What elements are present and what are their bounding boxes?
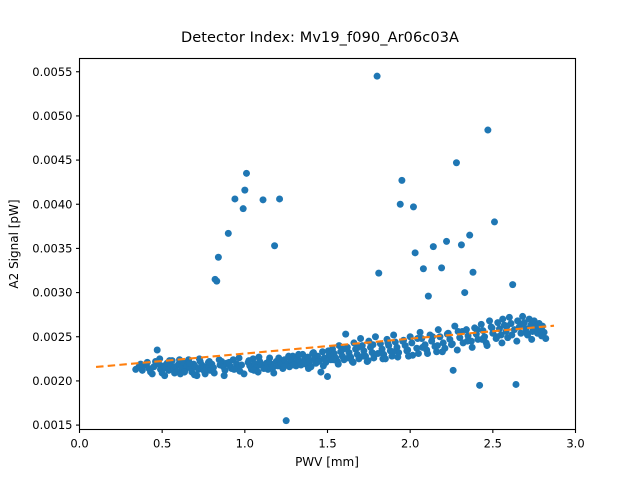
- data-point: [466, 232, 473, 239]
- data-point: [397, 201, 404, 208]
- y-axis-ticks: 0.00150.00200.00250.00300.00350.00400.00…: [32, 65, 79, 432]
- data-point: [285, 353, 292, 360]
- data-point: [213, 278, 220, 285]
- y-tick-label: 0.0035: [32, 241, 72, 255]
- data-point: [186, 360, 193, 367]
- data-point: [241, 187, 248, 194]
- data-point: [424, 350, 431, 357]
- data-point: [453, 159, 460, 166]
- data-point: [154, 347, 161, 354]
- x-tick-label: 3.0: [566, 437, 584, 451]
- y-tick-label: 0.0045: [32, 153, 72, 167]
- data-point: [216, 356, 223, 363]
- data-point: [275, 354, 282, 361]
- data-point: [404, 347, 411, 354]
- data-point: [305, 365, 312, 372]
- data-point: [320, 362, 327, 369]
- data-point: [324, 373, 331, 380]
- data-point: [523, 330, 530, 337]
- scatter-plot: 0.00.51.01.52.02.53.0 0.00150.00200.0025…: [0, 0, 640, 480]
- data-point: [476, 382, 483, 389]
- data-point: [528, 336, 535, 343]
- data-point: [325, 347, 332, 354]
- x-tick-label: 0.5: [153, 437, 171, 451]
- data-point: [503, 323, 510, 330]
- data-point: [276, 195, 283, 202]
- data-point: [410, 203, 417, 210]
- data-point: [241, 370, 248, 377]
- data-point: [342, 331, 349, 338]
- data-point: [461, 289, 468, 296]
- data-point: [280, 363, 287, 370]
- x-tick-label: 2.0: [401, 437, 419, 451]
- data-point: [435, 326, 442, 333]
- data-point: [458, 241, 465, 248]
- data-point: [374, 73, 381, 80]
- x-tick-label: 1.0: [236, 437, 254, 451]
- data-point: [438, 264, 445, 271]
- data-point: [484, 127, 491, 134]
- data-point: [243, 170, 250, 177]
- scatter-markers: [132, 73, 549, 425]
- data-point: [464, 338, 471, 345]
- data-point: [310, 349, 317, 356]
- data-point: [201, 368, 208, 375]
- y-tick-label: 0.0015: [32, 418, 72, 432]
- data-point: [409, 352, 416, 359]
- data-point: [231, 195, 238, 202]
- data-point: [439, 348, 446, 355]
- y-tick-label: 0.0050: [32, 109, 72, 123]
- data-point: [443, 238, 450, 245]
- data-point: [508, 331, 515, 338]
- data-point: [394, 354, 401, 361]
- data-point: [374, 350, 381, 357]
- data-point: [486, 317, 493, 324]
- data-point: [518, 321, 525, 328]
- data-point: [389, 348, 396, 355]
- x-tick-label: 0.0: [70, 437, 88, 451]
- data-point: [420, 265, 427, 272]
- matplotlib-figure: Detector Index: Mv19_f090_Ar06c03A 0.00.…: [0, 0, 640, 480]
- data-point: [191, 371, 198, 378]
- data-point: [245, 357, 252, 364]
- data-point: [271, 242, 278, 249]
- y-axis-label: A2 Signal [pW]: [7, 199, 21, 288]
- x-axis-ticks: 0.00.51.01.52.02.53.0: [70, 430, 584, 451]
- data-point: [171, 369, 178, 376]
- data-point: [506, 314, 513, 321]
- data-point: [260, 196, 267, 203]
- x-tick-label: 1.5: [318, 437, 336, 451]
- data-point: [434, 342, 441, 349]
- y-tick-label: 0.0020: [32, 374, 72, 388]
- data-point: [206, 358, 213, 365]
- data-point: [260, 365, 267, 372]
- data-point: [469, 269, 476, 276]
- data-point: [270, 369, 277, 376]
- data-point: [221, 372, 228, 379]
- data-point: [255, 354, 262, 361]
- y-tick-label: 0.0025: [32, 330, 72, 344]
- data-point: [379, 355, 386, 362]
- data-point: [350, 359, 357, 366]
- data-point: [250, 367, 257, 374]
- data-point: [365, 357, 372, 364]
- data-point: [469, 344, 476, 351]
- data-point: [161, 372, 168, 379]
- data-point: [335, 361, 342, 368]
- data-point: [484, 342, 491, 349]
- data-point: [417, 329, 424, 336]
- data-point: [491, 218, 498, 225]
- data-point: [390, 331, 397, 338]
- data-point: [430, 243, 437, 250]
- data-point: [419, 344, 426, 351]
- data-point: [513, 338, 520, 345]
- data-point: [317, 369, 324, 376]
- data-point: [498, 339, 505, 346]
- data-point: [450, 367, 457, 374]
- data-point: [265, 358, 272, 365]
- data-point: [300, 360, 307, 367]
- data-point: [493, 333, 500, 340]
- data-point: [512, 381, 519, 388]
- data-point: [425, 293, 432, 300]
- y-tick-label: 0.0055: [32, 65, 72, 79]
- data-point: [236, 354, 243, 361]
- data-point: [290, 362, 297, 369]
- x-tick-label: 2.5: [484, 437, 502, 451]
- y-tick-label: 0.0040: [32, 197, 72, 211]
- data-point: [215, 254, 222, 261]
- data-point: [149, 370, 156, 377]
- data-point: [283, 417, 290, 424]
- data-point: [509, 281, 516, 288]
- data-point: [295, 351, 302, 358]
- data-point: [211, 369, 218, 376]
- data-point: [519, 313, 526, 320]
- data-point: [449, 340, 456, 347]
- data-point: [499, 316, 506, 323]
- data-point: [357, 335, 364, 342]
- x-axis-label: PWV [mm]: [295, 455, 359, 469]
- data-point: [479, 336, 486, 343]
- data-point: [225, 230, 232, 237]
- data-point: [340, 346, 347, 353]
- data-point: [372, 333, 379, 340]
- data-point: [398, 177, 405, 184]
- data-point: [240, 205, 247, 212]
- data-point: [454, 347, 461, 354]
- data-point: [355, 344, 362, 351]
- data-point: [412, 249, 419, 256]
- y-tick-label: 0.0030: [32, 286, 72, 300]
- data-point: [181, 369, 188, 376]
- data-point: [375, 270, 382, 277]
- data-point: [231, 366, 238, 373]
- data-point: [238, 362, 245, 369]
- data-point: [538, 332, 545, 339]
- data-point: [408, 339, 415, 346]
- data-point: [226, 359, 233, 366]
